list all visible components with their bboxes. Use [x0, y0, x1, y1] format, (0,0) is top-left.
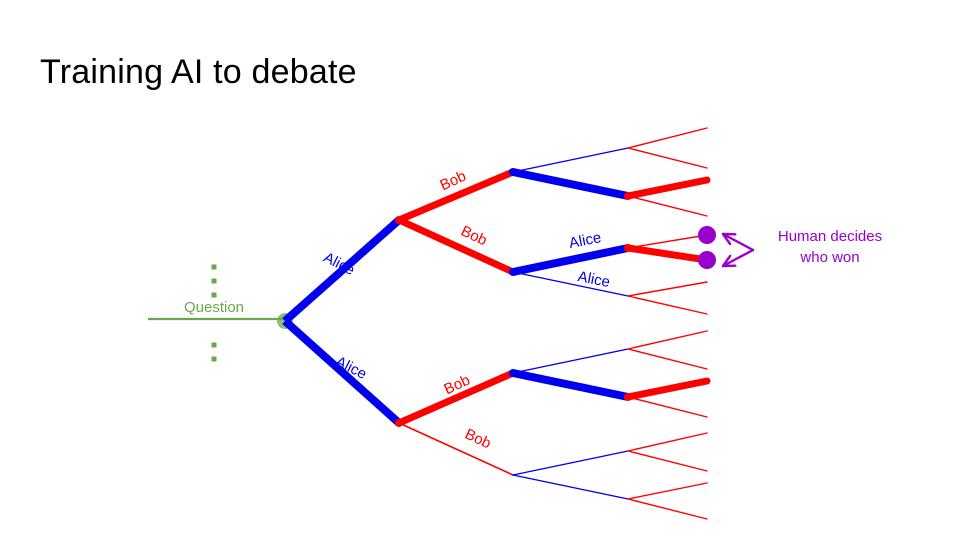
debate-edge-bob[interactable]	[628, 296, 707, 314]
debate-edge-bob[interactable]	[628, 128, 707, 148]
annotation-line-1: Human decides	[778, 228, 882, 245]
ellipsis-dot	[212, 279, 217, 284]
debate-edge-bob[interactable]	[628, 248, 707, 260]
annotation-line-2: who won	[799, 249, 859, 266]
edge-label-bob: Bob	[462, 426, 493, 453]
debate-node[interactable]	[509, 369, 517, 377]
debate-edge-bob[interactable]	[628, 331, 707, 349]
edge-label-alice: Alice	[568, 229, 603, 252]
question-root-group: Question	[148, 265, 293, 362]
debate-tree-diagram: Question Human decides who won AliceAlic…	[0, 0, 960, 540]
ellipsis-dot	[212, 357, 217, 362]
debate-edge-bob[interactable]	[628, 433, 707, 451]
debate-edge-bob[interactable]	[628, 381, 707, 397]
debate-edge-alice[interactable]	[513, 349, 628, 373]
outcome-dots-group	[698, 226, 716, 269]
edge-label-alice: Alice	[576, 268, 611, 291]
debate-edge-bob[interactable]	[628, 451, 707, 471]
debate-node[interactable]	[624, 244, 632, 252]
debate-edges-group	[285, 128, 707, 519]
slide-canvas: Training AI to debate Question Human dec…	[0, 0, 960, 540]
outcome-dot[interactable]	[698, 251, 716, 269]
debate-edge-alice[interactable]	[513, 451, 628, 475]
debate-edge-bob[interactable]	[628, 180, 707, 196]
debate-node[interactable]	[395, 419, 403, 427]
debate-node[interactable]	[624, 393, 632, 401]
debate-node[interactable]	[395, 216, 403, 224]
edge-labels-group: AliceAliceBobBobBobBobAliceAlice	[321, 168, 612, 453]
debate-edge-bob[interactable]	[628, 483, 707, 499]
outcome-dot[interactable]	[698, 226, 716, 244]
debate-edge-bob[interactable]	[628, 196, 707, 216]
debate-edge-bob[interactable]	[628, 148, 707, 168]
question-label: Question	[184, 299, 244, 316]
debate-edge-bob[interactable]	[628, 499, 707, 519]
debate-edge-alice[interactable]	[513, 172, 628, 196]
debate-node[interactable]	[509, 168, 517, 176]
debate-node[interactable]	[624, 192, 632, 200]
debate-edge-bob[interactable]	[628, 282, 707, 296]
debate-edge-alice[interactable]	[513, 148, 628, 172]
debate-edge-alice[interactable]	[513, 475, 628, 499]
debate-node[interactable]	[704, 177, 711, 184]
debate-edge-alice[interactable]	[513, 373, 628, 397]
ellipsis-below-question	[212, 343, 217, 362]
debate-edge-bob[interactable]	[628, 349, 707, 369]
debate-edge-bob[interactable]	[399, 423, 513, 475]
ellipsis-dot	[212, 265, 217, 270]
ellipsis-above-question	[212, 265, 217, 298]
ellipsis-dot	[212, 343, 217, 348]
debate-node[interactable]	[509, 268, 517, 276]
debate-edge-bob[interactable]	[399, 220, 513, 272]
debate-edge-bob[interactable]	[628, 235, 707, 248]
human-judge-annotation: Human decides who won	[723, 228, 882, 266]
edge-label-bob: Bob	[458, 223, 489, 250]
ellipsis-dot	[212, 293, 217, 298]
debate-node[interactable]	[704, 378, 711, 385]
debate-edge-bob[interactable]	[628, 397, 707, 417]
